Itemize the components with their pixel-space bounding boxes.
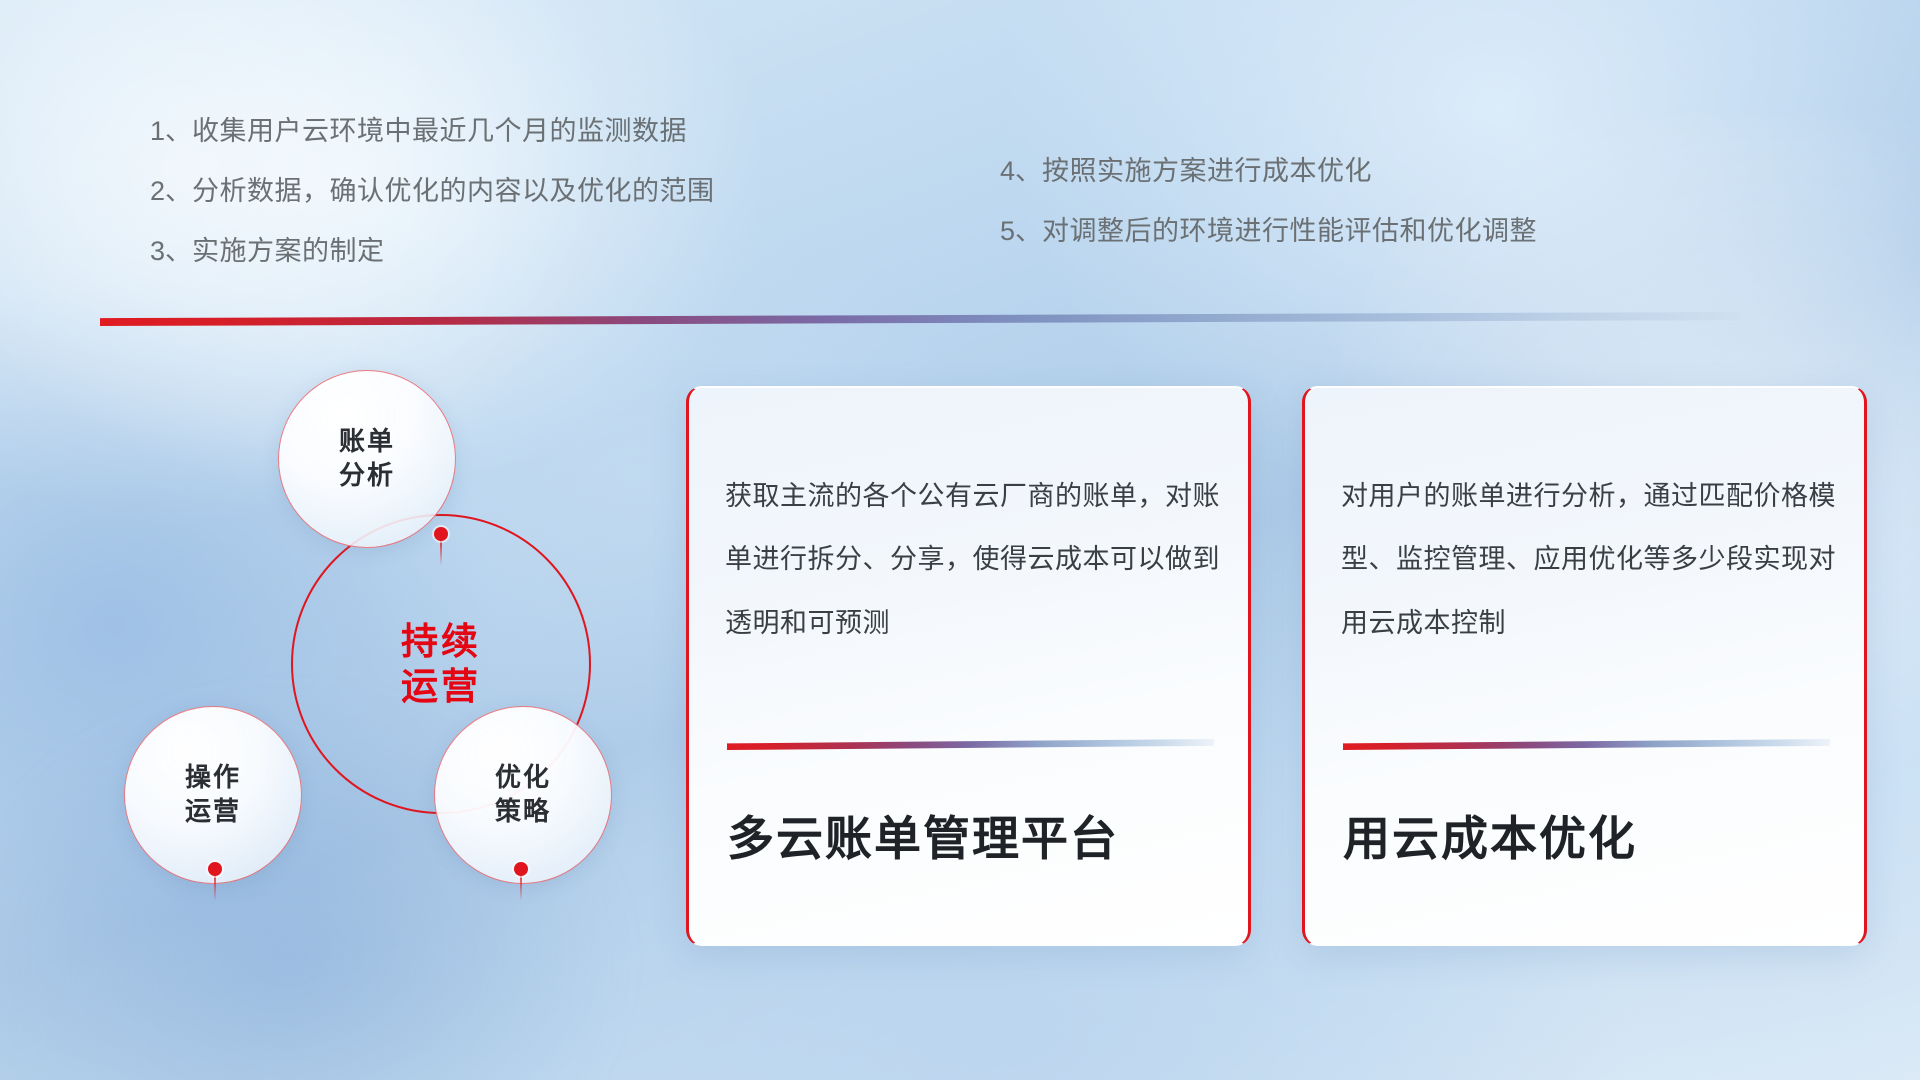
- slide-stage: 1、收集用户云环境中最近几个月的监测数据 2、分析数据，确认优化的内容以及优化的…: [0, 0, 1920, 1080]
- feature-card-2-title: 用云成本优化: [1343, 811, 1836, 867]
- feature-card-cloud-cost-optimization[interactable]: 对用户的账单进行分析，通过匹配价格模型、监控管理、应用优化等多少段实现对用云成本…: [1302, 386, 1867, 946]
- feature-card-2-body: 对用户的账单进行分析，通过匹配价格模型、监控管理、应用优化等多少段实现对用云成本…: [1341, 465, 1836, 655]
- feature-card-1-body: 获取主流的各个公有云厂商的账单，对账单进行拆分、分享，使得云成本可以做到透明和可…: [725, 465, 1220, 655]
- feature-cards-section: 获取主流的各个公有云厂商的账单，对账单进行拆分、分享，使得云成本可以做到透明和可…: [0, 0, 1920, 1080]
- feature-card-1-divider: [727, 739, 1214, 750]
- feature-card-multi-cloud-billing-platform[interactable]: 获取主流的各个公有云厂商的账单，对账单进行拆分、分享，使得云成本可以做到透明和可…: [686, 386, 1251, 946]
- feature-card-2-divider: [1343, 739, 1830, 750]
- feature-card-1-title: 多云账单管理平台: [727, 811, 1220, 867]
